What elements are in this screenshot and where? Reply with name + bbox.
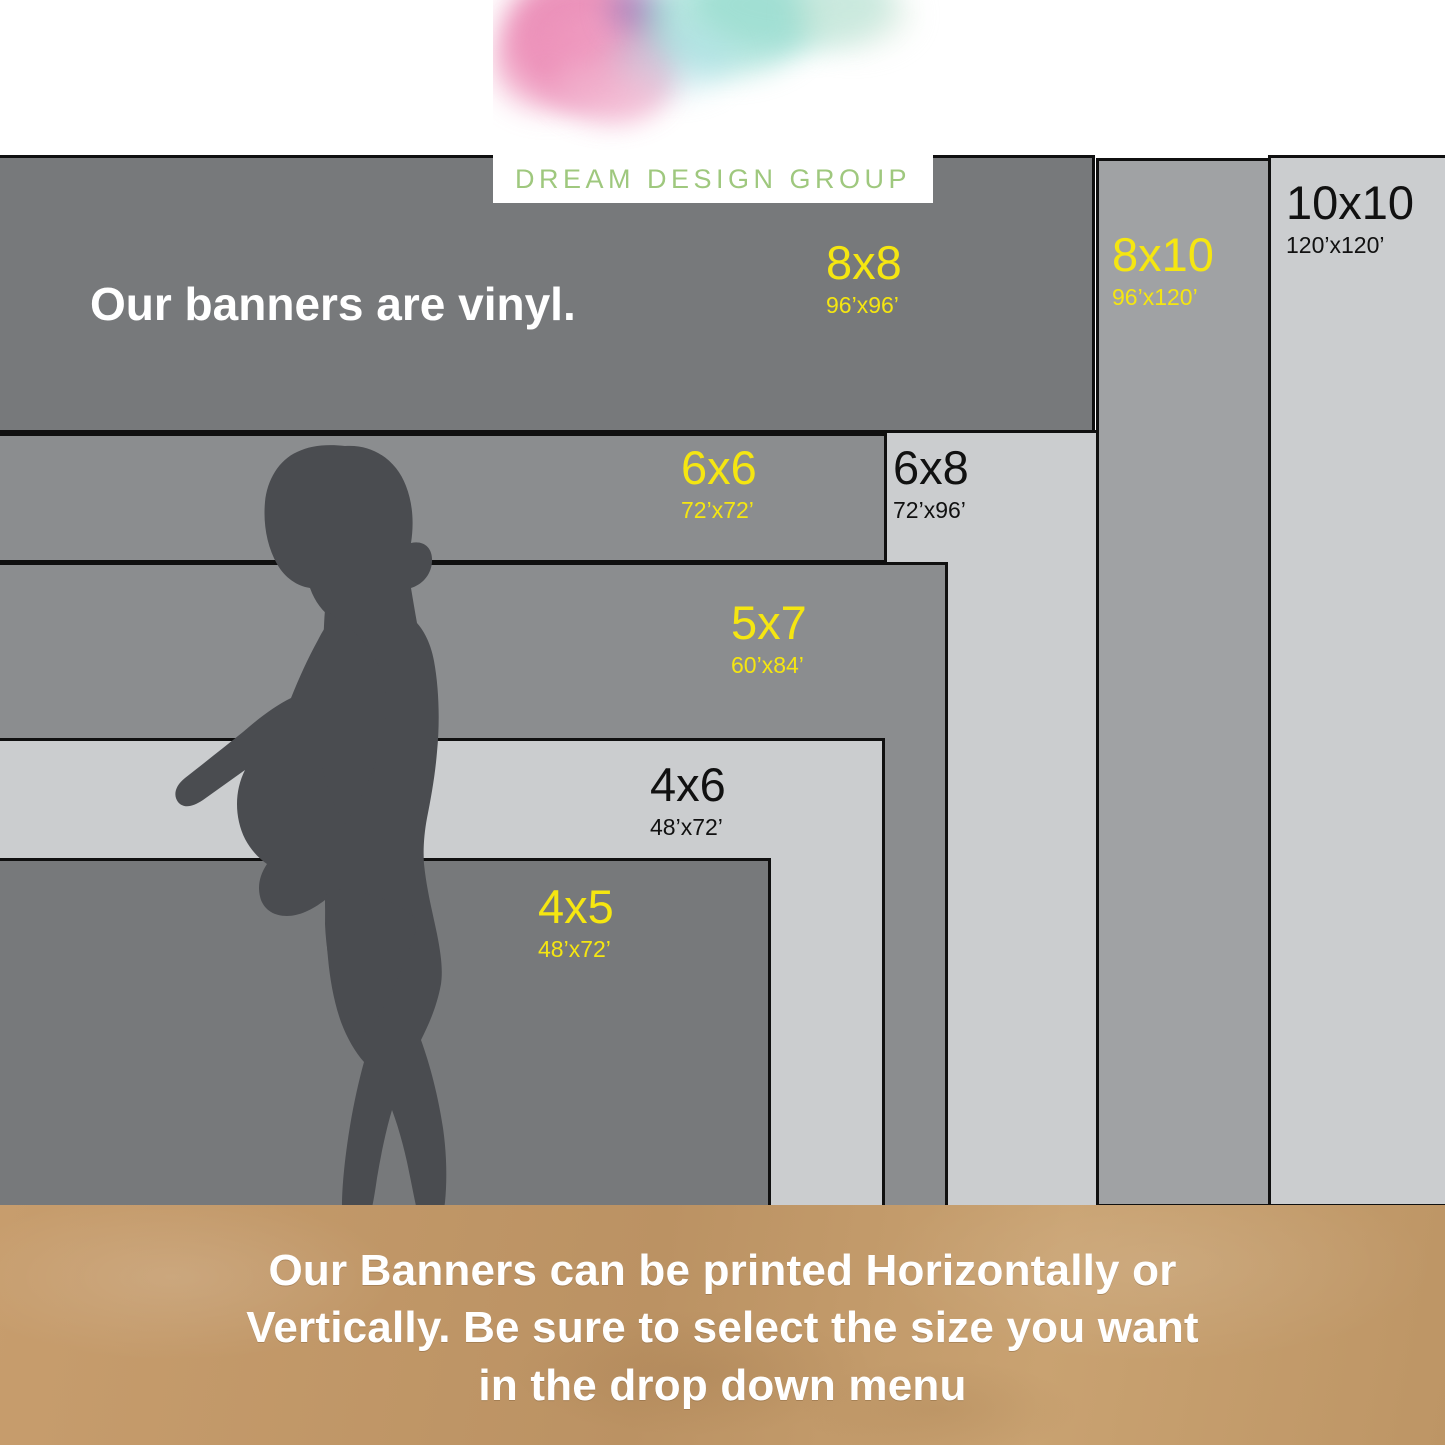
size-name-4x6: 4x6	[650, 760, 726, 809]
size-dims-4x5: 48’x72’	[538, 935, 614, 965]
size-dims-5x7: 60’x84’	[731, 651, 807, 681]
size-name-6x6: 6x6	[681, 443, 757, 492]
size-dims-8x8: 96’x96’	[826, 291, 902, 321]
size-rect-8x10[interactable]	[1096, 158, 1271, 1207]
caption-line-2: Vertically. Be sure to select the size y…	[246, 1299, 1199, 1356]
brand-name-text: DREAM DESIGN GROUP	[515, 164, 911, 195]
size-dims-10x10: 120’x120’	[1286, 231, 1414, 261]
size-label-6x8: 6x8 72’x96’	[893, 443, 969, 526]
size-name-8x10: 8x10	[1112, 230, 1214, 279]
woman-silhouette-icon	[175, 440, 505, 1230]
size-label-4x5: 4x5 48’x72’	[538, 882, 614, 965]
size-dims-4x6: 48’x72’	[650, 813, 726, 843]
caption-line-1: Our Banners can be printed Horizontally …	[268, 1242, 1176, 1299]
banner-size-chart: 10x10 120’x120’ 8x10 96’x120’ 6x8 72’x96…	[0, 0, 1445, 1445]
size-dims-6x8: 72’x96’	[893, 496, 969, 526]
brand-name-plate: DREAM DESIGN GROUP	[493, 155, 933, 203]
bottom-caption-band: Our Banners can be printed Horizontally …	[0, 1205, 1445, 1445]
size-name-5x7: 5x7	[731, 598, 807, 647]
size-rect-10x10[interactable]	[1268, 155, 1445, 1207]
size-label-8x10: 8x10 96’x120’	[1112, 230, 1214, 313]
size-name-10x10: 10x10	[1286, 178, 1414, 227]
size-name-4x5: 4x5	[538, 882, 614, 931]
size-label-8x8: 8x8 96’x96’	[826, 238, 902, 321]
size-label-5x7: 5x7 60’x84’	[731, 598, 807, 681]
headline-text: Our banners are vinyl.	[90, 277, 576, 331]
size-label-10x10: 10x10 120’x120’	[1286, 178, 1414, 261]
caption-line-3: in the drop down menu	[478, 1357, 966, 1414]
size-dims-6x6: 72’x72’	[681, 496, 757, 526]
size-label-4x6: 4x6 48’x72’	[650, 760, 726, 843]
size-dims-8x10: 96’x120’	[1112, 283, 1214, 313]
size-name-6x8: 6x8	[893, 443, 969, 492]
size-name-8x8: 8x8	[826, 238, 902, 287]
size-label-6x6: 6x6 72’x72’	[681, 443, 757, 526]
brand-logo-watercolor	[493, 0, 940, 155]
